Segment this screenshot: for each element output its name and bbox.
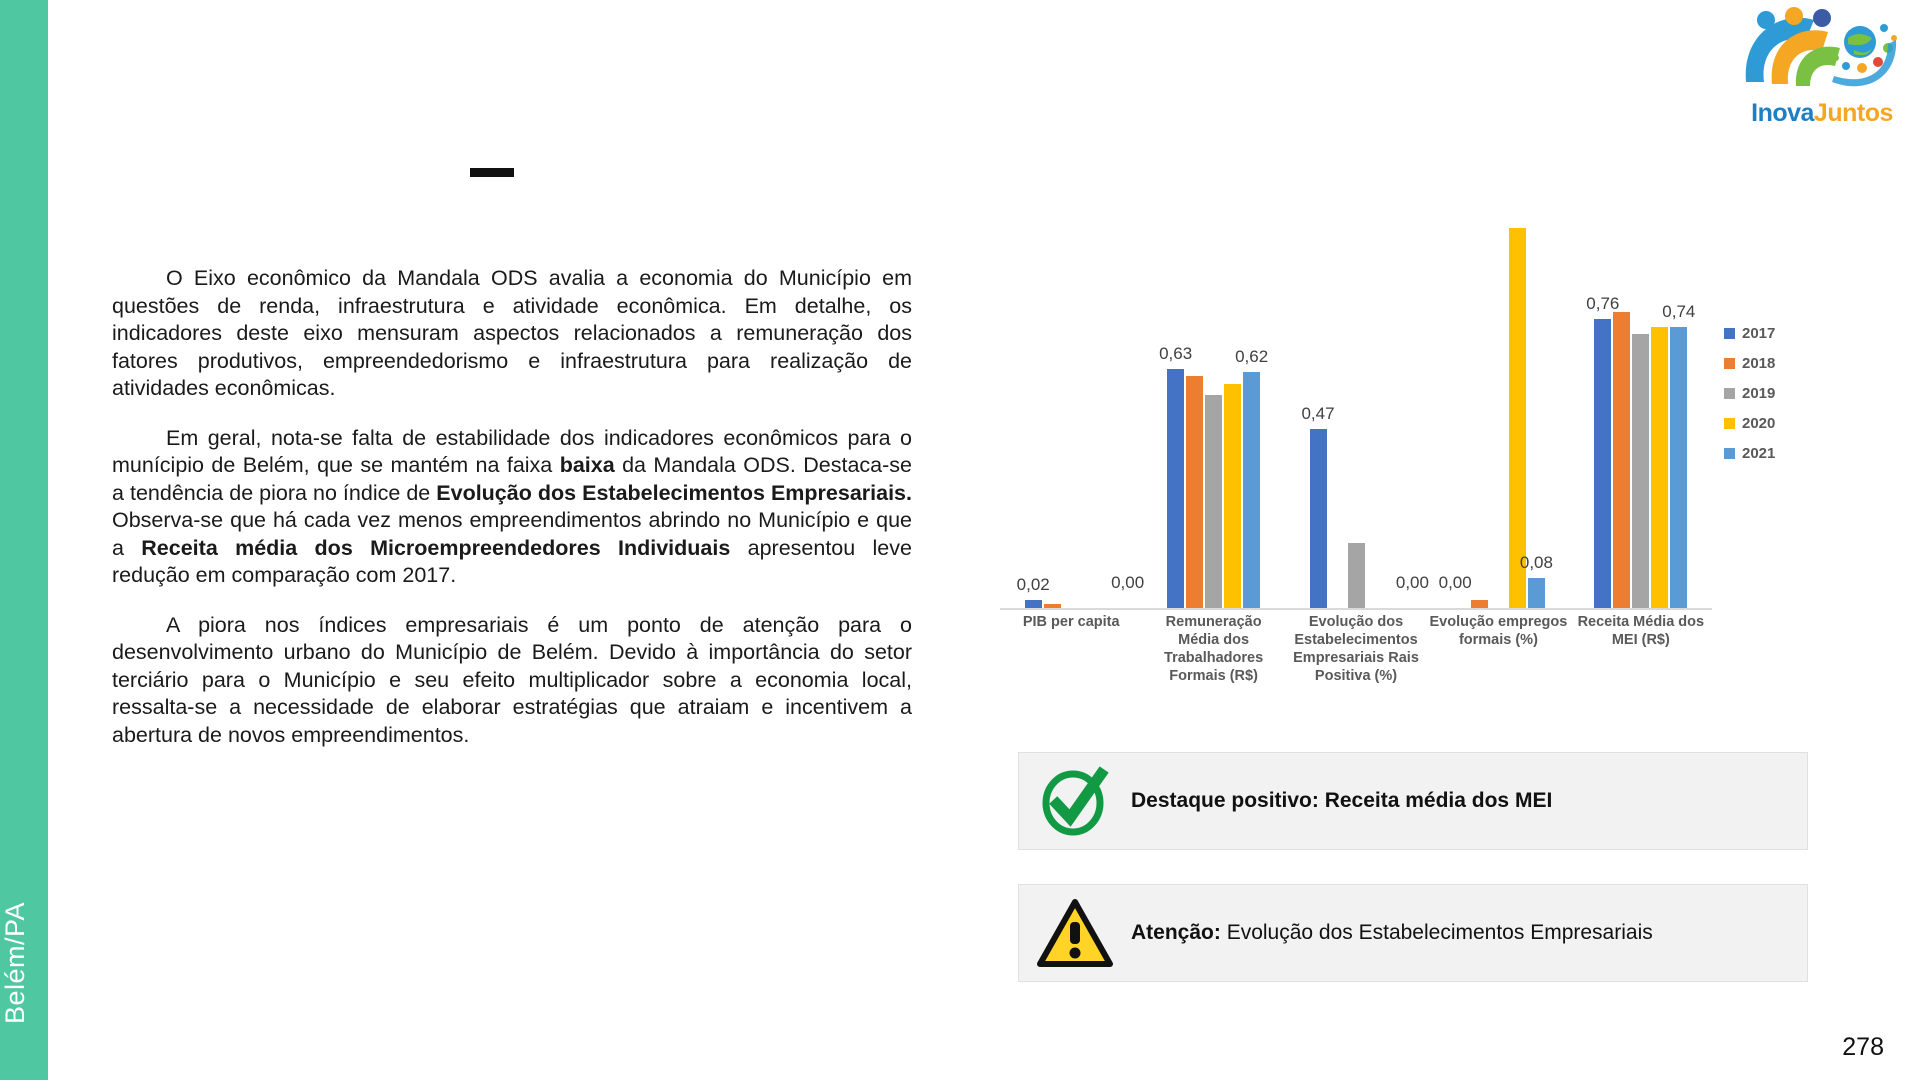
chart-legend-item[interactable]: 2019	[1724, 385, 1775, 402]
chart-bar	[1613, 312, 1630, 608]
legend-label: 2021	[1742, 445, 1775, 462]
legend-color-swatch	[1724, 418, 1735, 429]
legend-label: 2017	[1742, 325, 1775, 342]
title-dash-rule	[470, 168, 514, 177]
legend-color-swatch	[1724, 358, 1735, 369]
chart-bar	[1186, 376, 1203, 608]
chart-category-labels: PIB per capitaRemuneração Média dos Trab…	[1000, 613, 1712, 685]
chart-x-axis-line	[1000, 608, 1712, 610]
plain-text: O Eixo econômico da Mandala ODS avalia a…	[112, 266, 912, 400]
chart-legend-item[interactable]: 2017	[1724, 325, 1775, 342]
chart-bar: 0,08	[1528, 578, 1545, 608]
sidebar-city-label: Belém/PA	[0, 902, 48, 1024]
chart-bar-group: 0,630,62	[1142, 228, 1284, 608]
body-paragraph: A piora nos índices empresariais é um po…	[112, 612, 912, 750]
chart-category-label: PIB per capita	[1000, 613, 1142, 685]
chart-bar	[1471, 600, 1488, 608]
chart-bar: 0,63	[1167, 369, 1184, 608]
economic-indicators-bar-chart: 0,000,020,630,620,000,470,000,080,760,74…	[1000, 215, 1760, 615]
callout-attention-prefix: Atenção:	[1131, 921, 1221, 944]
chart-bar	[1509, 228, 1526, 608]
emphasis-text: baixa	[560, 453, 615, 477]
chart-bar-groups: 0,000,020,630,620,000,470,000,080,760,74	[1000, 228, 1712, 608]
chart-zero-label: 0,00	[1111, 573, 1144, 593]
chart-bar: 0,62	[1243, 372, 1260, 608]
legend-label: 2019	[1742, 385, 1775, 402]
chart-data-label: 0,47	[1301, 404, 1334, 424]
chart-data-label: 0,02	[1017, 575, 1050, 595]
chart-zero-label: 0,00	[1396, 573, 1429, 593]
callout-attention-text: Atenção: Evolução dos Estabelecimentos E…	[1131, 921, 1653, 945]
callout-positive-text: Destaque positivo: Receita média dos MEI	[1131, 789, 1552, 813]
legend-color-swatch	[1724, 448, 1735, 459]
emphasis-text: Receita média dos Microempreendedores In…	[141, 536, 730, 560]
emphasis-text: Evolução dos Estabelecimentos Empresaria…	[436, 481, 912, 505]
chart-bar: 0,47	[1310, 429, 1327, 608]
chart-category-label: Evolução dos Estabelecimentos Empresaria…	[1285, 613, 1427, 685]
chart-data-label: 0,62	[1235, 347, 1268, 367]
chart-plot-area: 0,000,020,630,620,000,470,000,080,760,74	[1000, 215, 1712, 610]
chart-legend-item[interactable]: 2021	[1724, 445, 1775, 462]
chart-bar: 0,76	[1594, 319, 1611, 608]
inovajuntos-logo: InovaJuntos	[1736, 4, 1908, 134]
chart-data-label: 0,74	[1662, 302, 1695, 322]
logo-word-juntos: Juntos	[1814, 99, 1893, 127]
body-paragraph: Em geral, nota-se falta de estabilidade …	[112, 425, 912, 590]
chart-category-label: Evolução empregos formais (%)	[1427, 613, 1569, 685]
chart-data-label: 0,63	[1159, 344, 1192, 364]
callout-attention-body: Evolução dos Estabelecimentos Empresaria…	[1221, 921, 1653, 944]
chart-bar	[1205, 395, 1222, 608]
callout-positive-highlight: Destaque positivo: Receita média dos MEI	[1018, 752, 1808, 850]
chart-zero-label: 0,00	[1439, 573, 1472, 593]
callout-attention: Atenção: Evolução dos Estabelecimentos E…	[1018, 884, 1808, 982]
chart-bar	[1651, 327, 1668, 608]
chart-legend-item[interactable]: 2018	[1724, 355, 1775, 372]
left-accent-sidebar: Belém/PA	[0, 0, 48, 1080]
chart-bar	[1224, 384, 1241, 608]
chart-legend: 20172018201920202021	[1724, 325, 1775, 462]
chart-bar-group: 0,000,02	[1000, 228, 1142, 608]
page-number: 278	[1842, 1033, 1884, 1062]
logo-wordmark: InovaJuntos	[1736, 99, 1908, 128]
legend-label: 2018	[1742, 355, 1775, 372]
legend-label: 2020	[1742, 415, 1775, 432]
slide-page: Belém/PA InovaJuntos O Eixo e	[0, 0, 1920, 1080]
callout-positive-body: Receita média dos MEI	[1319, 789, 1552, 812]
chart-bar	[1348, 543, 1365, 608]
chart-bar-group: 0,000,47	[1285, 228, 1427, 608]
green-check-icon	[1019, 763, 1131, 839]
chart-category-label: Receita Média dos MEI (R$)	[1570, 613, 1712, 685]
chart-bar: 0,74	[1670, 327, 1687, 608]
logo-mark-icon	[1736, 4, 1908, 104]
legend-color-swatch	[1724, 328, 1735, 339]
callout-positive-prefix: Destaque positivo:	[1131, 789, 1319, 812]
plain-text: A piora nos índices empresariais é um po…	[112, 613, 912, 747]
chart-bar: 0,02	[1025, 600, 1042, 608]
chart-bar-group: 0,000,08	[1427, 228, 1569, 608]
chart-data-label: 0,08	[1520, 553, 1553, 573]
chart-category-label: Remuneração Média dos Trabalhadores Form…	[1142, 613, 1284, 685]
body-paragraph: O Eixo econômico da Mandala ODS avalia a…	[112, 265, 912, 403]
legend-color-swatch	[1724, 388, 1735, 399]
body-text-column: O Eixo econômico da Mandala ODS avalia a…	[112, 265, 912, 749]
chart-bar	[1632, 334, 1649, 608]
chart-bar-group: 0,760,74	[1570, 228, 1712, 608]
logo-word-inova: Inova	[1751, 99, 1814, 127]
chart-legend-item[interactable]: 2020	[1724, 415, 1775, 432]
warning-triangle-icon	[1019, 898, 1131, 968]
